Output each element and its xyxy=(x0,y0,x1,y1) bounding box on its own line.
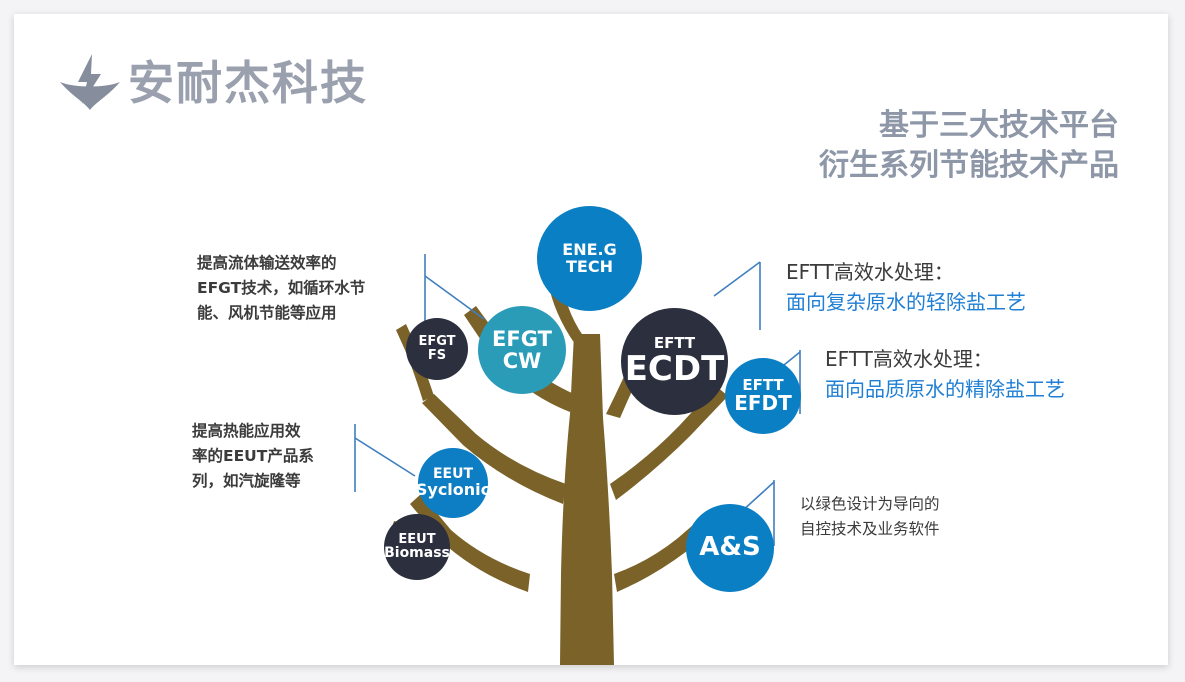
tech-node-label: FS xyxy=(428,349,446,363)
callout-right-bottom-line2: 自控技术及业务软件 xyxy=(800,517,1020,542)
tech-node-sublabel: EFGT xyxy=(492,328,552,350)
tech-node-eeut-biomass[interactable]: EEUTBiomass xyxy=(384,514,450,580)
callout-left-bottom-line2: 率的EEUT产品系 xyxy=(192,444,367,469)
callout-left-bottom: 提高热能应用效 率的EEUT产品系 列，如汽旋隆等 xyxy=(192,419,367,494)
callout-right-mid: EFTT高效水处理： 面向品质原水的精除盐工艺 xyxy=(825,344,1155,404)
tech-node-efgt-cw[interactable]: EFGTCW xyxy=(478,306,566,394)
tree-graphic xyxy=(14,14,1168,665)
callout-right-top-title: EFTT高效水处理： xyxy=(786,257,1116,287)
callout-right-top: EFTT高效水处理： 面向复杂原水的轻除盐工艺 xyxy=(786,257,1116,317)
callout-left-top-line3: 能、风机节能等应用 xyxy=(197,301,412,326)
callout-right-mid-desc: 面向品质原水的精除盐工艺 xyxy=(825,374,1155,404)
tech-node-label: Biomass xyxy=(384,546,450,561)
tech-node-sublabel: EEUT xyxy=(398,533,435,547)
callout-right-bottom: 以绿色设计为导向的 自控技术及业务软件 xyxy=(800,492,1020,542)
callout-left-top: 提高流体输送效率的 EFGT技术，如循环水节 能、风机节能等应用 xyxy=(197,251,412,326)
tech-node-eftt-ecdt[interactable]: EFTTECDT xyxy=(621,308,728,415)
tech-node-label: ENE.G TECH xyxy=(537,242,642,276)
tech-node-sublabel: EFGT xyxy=(418,335,455,349)
tech-node-as[interactable]: A&S xyxy=(686,504,774,592)
tech-node-efgt-fs[interactable]: EFGTFS xyxy=(406,318,468,380)
callout-left-bottom-line3: 列，如汽旋隆等 xyxy=(192,469,367,494)
tech-node-label: CW xyxy=(503,350,542,372)
tech-node-eftt-efdt[interactable]: EFTTEFDT xyxy=(725,358,801,434)
tech-node-eeut-syclonic[interactable]: EEUTSyclonic xyxy=(418,448,488,518)
tech-node-label: EFDT xyxy=(734,393,792,414)
tech-node-eneg-tech[interactable]: ENE.G TECH xyxy=(537,206,642,311)
callout-right-top-desc: 面向复杂原水的轻除盐工艺 xyxy=(786,287,1116,317)
callout-left-bottom-line1: 提高热能应用效 xyxy=(192,419,367,444)
tech-node-label: A&S xyxy=(699,534,761,561)
callout-left-top-line2: EFGT技术，如循环水节 xyxy=(197,276,412,301)
slide-canvas: 安耐杰科技 基于三大技术平台 衍生系列节能技术产品 xyxy=(14,14,1168,665)
callout-right-mid-title: EFTT高效水处理： xyxy=(825,344,1155,374)
callout-right-bottom-line1: 以绿色设计为导向的 xyxy=(800,492,1020,517)
callout-left-top-line1: 提高流体输送效率的 xyxy=(197,251,412,276)
tech-node-label: Syclonic xyxy=(416,482,490,499)
tech-node-label: ECDT xyxy=(625,352,725,388)
